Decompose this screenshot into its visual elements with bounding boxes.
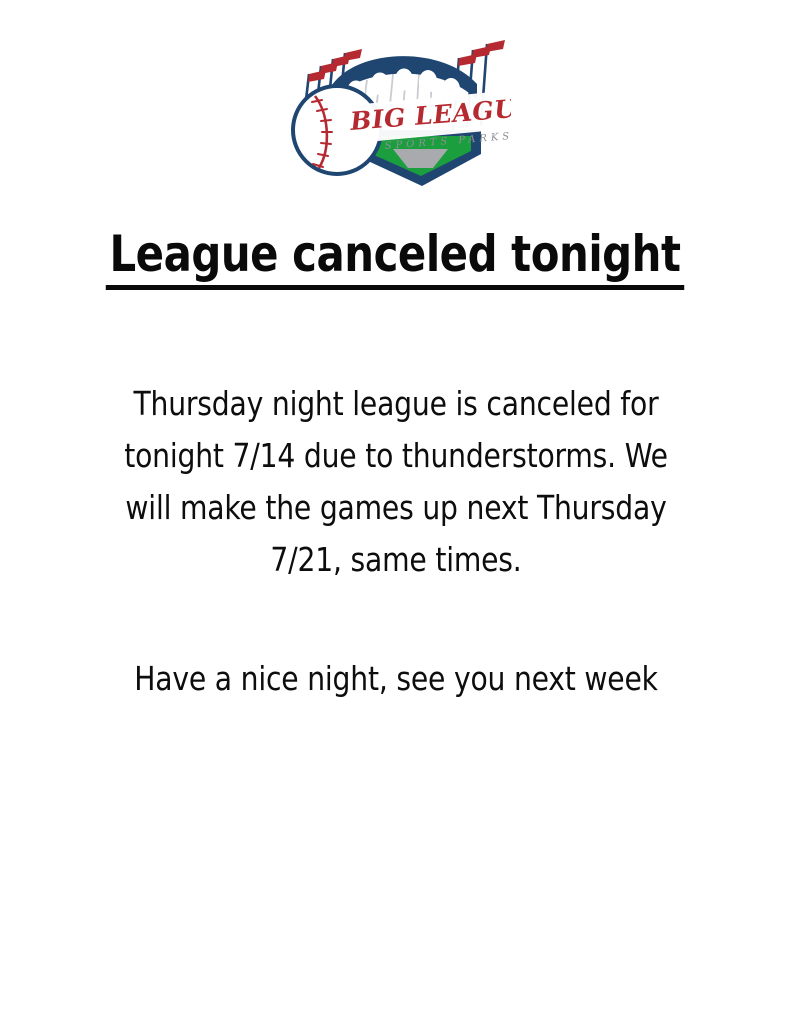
- big-league-dreams-logo: BIG LEAGUE DREAMS SPORTS PARKS: [281, 18, 511, 190]
- body-line: tonight 7/14 due to thunderstorms. We: [111, 430, 681, 482]
- logo-block: BIG LEAGUE DREAMS SPORTS PARKS: [0, 18, 791, 190]
- body-paragraph: Thursday night league is canceled for to…: [96, 378, 696, 586]
- body-line: 7/21, same times.: [111, 534, 681, 586]
- signoff-line: Have a nice night, see you next week: [111, 656, 681, 702]
- flyer-page: BIG LEAGUE DREAMS SPORTS PARKS League ca…: [0, 0, 791, 1024]
- signoff-paragraph: Have a nice night, see you next week: [96, 656, 696, 702]
- body-line: will make the games up next Thursday: [111, 482, 681, 534]
- body-line: Thursday night league is canceled for: [111, 378, 681, 430]
- heading-wrap: League canceled tonight: [0, 228, 791, 290]
- page-title: League canceled tonight: [106, 228, 684, 290]
- flags-right: [458, 40, 505, 66]
